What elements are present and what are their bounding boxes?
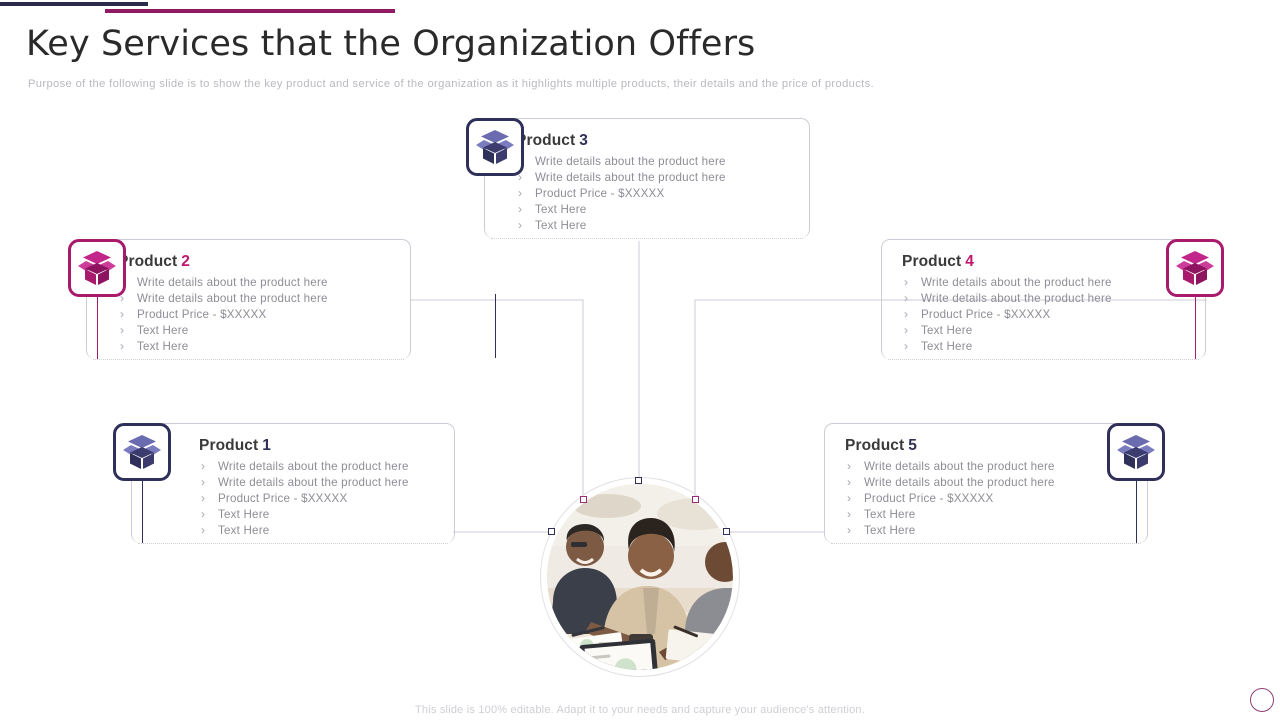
product-card-5-title: Product5 xyxy=(845,437,1055,455)
list-item: Product Price - $XXXXX xyxy=(902,307,1112,323)
product-card-1-number: 1 xyxy=(262,437,271,454)
list-item: Product Price - $XXXXX xyxy=(845,491,1055,507)
list-item: Write details about the product here xyxy=(902,291,1112,307)
list-item: Write details about the product here xyxy=(845,459,1055,475)
connector-marker-right xyxy=(723,528,730,535)
product-card-4-stub xyxy=(1195,297,1196,359)
header-accent-bar-magenta xyxy=(105,9,395,13)
product-card-3-body: Product3 Write details about the product… xyxy=(516,132,726,234)
list-item: Text Here xyxy=(845,507,1055,523)
list-item: Write details about the product here xyxy=(516,154,726,170)
list-item: Text Here xyxy=(902,323,1112,339)
product-card-5-stub xyxy=(1136,481,1137,543)
open-box-icon xyxy=(1166,239,1224,297)
page-title: Key Services that the Organization Offer… xyxy=(26,24,755,64)
list-item: Product Price - $XXXXX xyxy=(118,307,328,323)
product-card-1-label: Product xyxy=(199,437,258,454)
connector-marker-upper-right xyxy=(692,496,699,503)
product-card-5-number: 5 xyxy=(908,437,917,454)
list-item: Write details about the product here xyxy=(199,475,409,491)
header-accent-bar-navy xyxy=(0,2,148,6)
product-card-1-title: Product1 xyxy=(199,437,409,455)
center-photo-frame xyxy=(540,477,740,677)
list-item: Text Here xyxy=(199,507,409,523)
product-card-4-label: Product xyxy=(902,253,961,270)
list-item: Write details about the product here xyxy=(516,170,726,186)
product-card-3-label: Product xyxy=(516,132,575,149)
connector-marker-left xyxy=(548,528,555,535)
page-subtitle: Purpose of the following slide is to sho… xyxy=(28,78,874,90)
product-card-4-number: 4 xyxy=(965,253,974,270)
footer-note: This slide is 100% editable. Adapt it to… xyxy=(0,704,1280,716)
product-card-3-stub xyxy=(495,294,496,358)
product-card-5-label: Product xyxy=(845,437,904,454)
open-box-icon xyxy=(466,118,524,176)
center-photo xyxy=(547,484,733,670)
list-item: Text Here xyxy=(516,218,726,234)
product-card-3-title: Product3 xyxy=(516,132,726,150)
product-card-1-details: Write details about the product here Wri… xyxy=(199,459,409,539)
connector-marker-top xyxy=(635,477,642,484)
open-box-icon xyxy=(113,423,171,481)
corner-circle-decoration xyxy=(1250,688,1274,712)
product-card-2-details: Write details about the product here Wri… xyxy=(118,275,328,355)
product-card-1-stub xyxy=(142,481,143,543)
product-card-2-title: Product2 xyxy=(118,253,328,271)
list-item: Write details about the product here xyxy=(902,275,1112,291)
list-item: Product Price - $XXXXX xyxy=(516,186,726,202)
product-card-2-stub xyxy=(97,297,98,359)
list-item: Write details about the product here xyxy=(118,291,328,307)
product-card-2-label: Product xyxy=(118,253,177,270)
list-item: Text Here xyxy=(902,339,1112,355)
product-card-5-details: Write details about the product here Wri… xyxy=(845,459,1055,539)
product-card-4-title: Product4 xyxy=(902,253,1112,271)
list-item: Text Here xyxy=(118,339,328,355)
list-item: Write details about the product here xyxy=(118,275,328,291)
open-box-icon xyxy=(68,239,126,297)
list-item: Text Here xyxy=(516,202,726,218)
list-item: Text Here xyxy=(118,323,328,339)
product-card-4-details: Write details about the product here Wri… xyxy=(902,275,1112,355)
connector-marker-upper-left xyxy=(580,496,587,503)
product-card-3-number: 3 xyxy=(579,132,588,149)
list-item: Text Here xyxy=(199,523,409,539)
product-card-5-body: Product5 Write details about the product… xyxy=(845,437,1055,539)
list-item: Write details about the product here xyxy=(199,459,409,475)
list-item: Text Here xyxy=(845,523,1055,539)
product-card-2-number: 2 xyxy=(181,253,190,270)
open-box-icon xyxy=(1107,423,1165,481)
product-card-1-body: Product1 Write details about the product… xyxy=(199,437,409,539)
list-item: Product Price - $XXXXX xyxy=(199,491,409,507)
list-item: Write details about the product here xyxy=(845,475,1055,491)
product-card-3-details: Write details about the product here Wri… xyxy=(516,154,726,234)
product-card-2-body: Product2 Write details about the product… xyxy=(118,253,328,355)
product-card-4-body: Product4 Write details about the product… xyxy=(902,253,1112,355)
